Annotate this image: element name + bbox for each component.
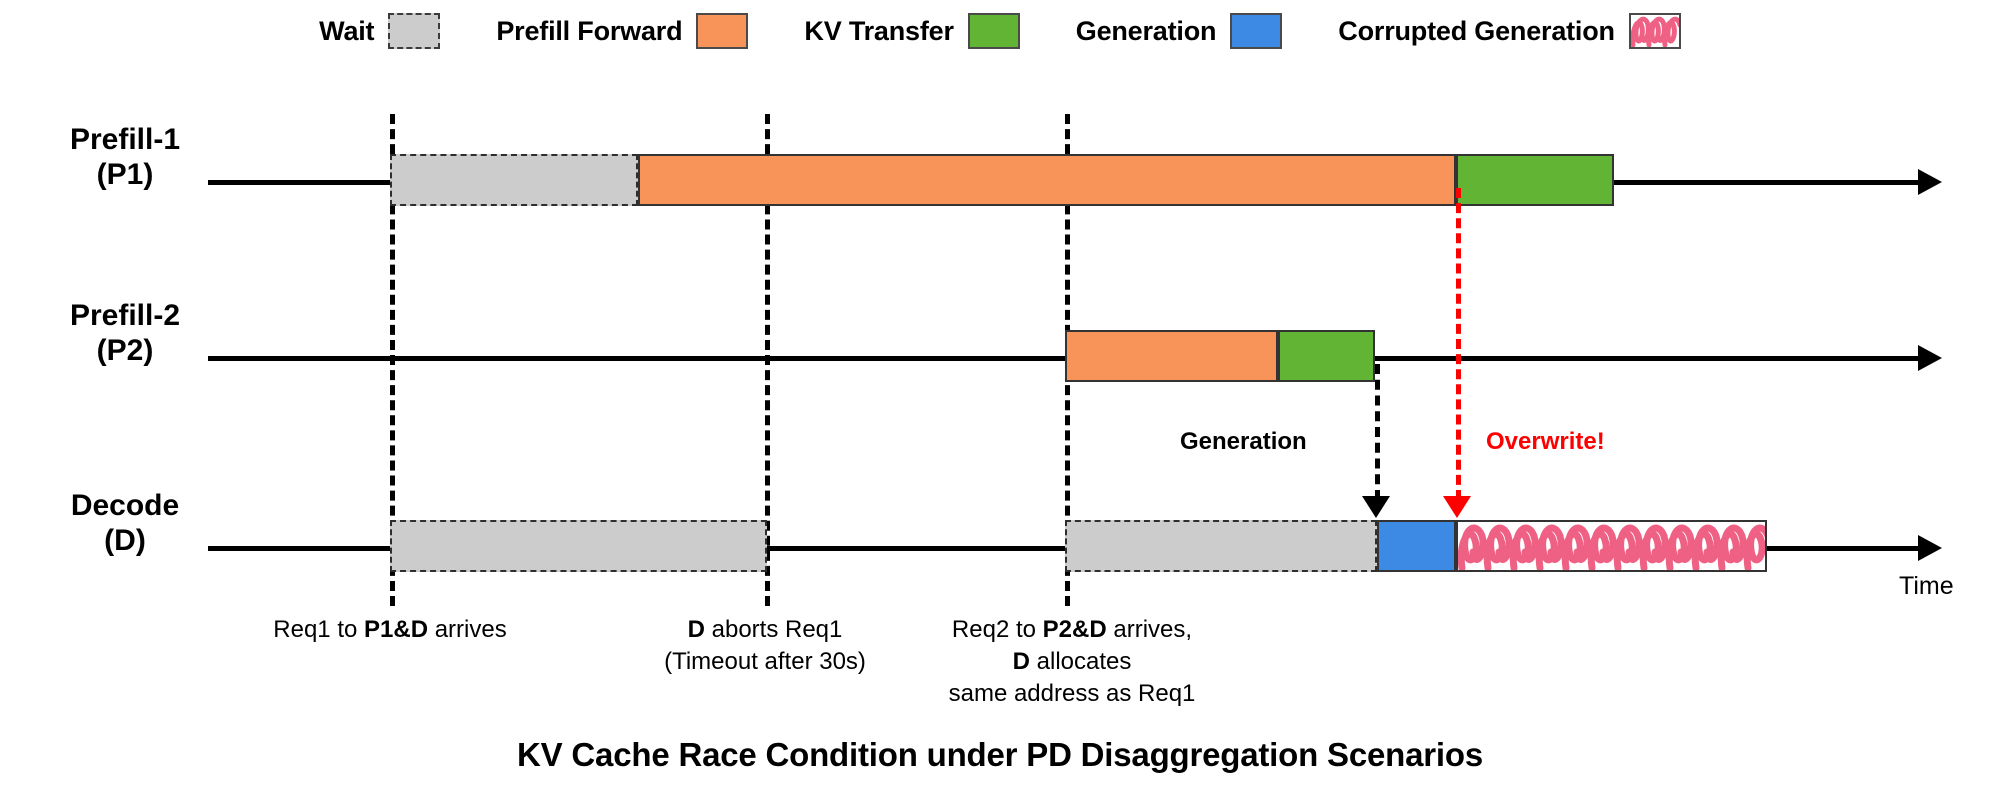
row-label-decode-line1: Decode xyxy=(10,488,240,523)
row-label-decode: Decode (D) xyxy=(10,488,240,559)
corrupted-generation-swatch-icon xyxy=(1629,13,1681,49)
row-label-decode-line2: (D) xyxy=(10,523,240,558)
row-label-prefill-1: Prefill-1 (P1) xyxy=(10,122,240,193)
bar-p2-prefill-forward xyxy=(1065,330,1278,382)
generation-swatch-icon xyxy=(1230,13,1282,49)
caption-line: Req1 to P1&D arrives xyxy=(273,614,506,646)
legend-item-wait: Wait xyxy=(319,13,440,49)
figure-canvas: Wait Prefill Forward KV Transfer Generat… xyxy=(0,0,2000,792)
time-axis-label: Time xyxy=(1899,572,1954,601)
prefill-forward-swatch-icon xyxy=(696,13,748,49)
caption-event-req2-arrives: Req2 to P2&D arrives, D allocates same a… xyxy=(949,614,1196,710)
legend-label-kv-transfer: KV Transfer xyxy=(804,16,953,47)
causal-arrow-generation-line xyxy=(1375,364,1380,500)
timeline-axis-head-prefill-1 xyxy=(1918,169,1942,195)
causal-arrow-overwrite-head-icon xyxy=(1443,496,1471,518)
bar-decode-generation xyxy=(1377,520,1456,572)
caption-line: D aborts Req1 xyxy=(664,614,866,646)
row-label-prefill-2: Prefill-2 (P2) xyxy=(10,298,240,369)
timeline-axis-head-decode xyxy=(1918,535,1942,561)
legend-item-corrupted-generation: Corrupted Generation xyxy=(1338,13,1681,49)
row-label-prefill-1-line2: (P1) xyxy=(10,157,240,192)
caption-event-req1-arrives: Req1 to P1&D arrives xyxy=(273,614,506,646)
timeline-axis-prefill-2 xyxy=(208,356,1920,361)
legend-label-corrupted-generation: Corrupted Generation xyxy=(1338,16,1615,47)
bar-p1-wait xyxy=(390,154,638,206)
caption-line: (Timeout after 30s) xyxy=(664,646,866,678)
causal-arrow-generation-label: Generation xyxy=(1180,428,1307,456)
bar-p2-kv-transfer xyxy=(1278,330,1375,382)
legend-item-prefill-forward: Prefill Forward xyxy=(496,13,748,49)
bar-decode-wait-2 xyxy=(1065,520,1377,572)
legend-item-generation: Generation xyxy=(1076,13,1283,49)
kv-transfer-swatch-icon xyxy=(968,13,1020,49)
bar-p1-prefill-forward xyxy=(638,154,1456,206)
bar-decode-corrupted-generation xyxy=(1456,520,1767,572)
legend: Wait Prefill Forward KV Transfer Generat… xyxy=(0,0,2000,62)
wait-swatch-icon xyxy=(388,13,440,49)
row-label-prefill-1-line1: Prefill-1 xyxy=(10,122,240,157)
row-label-prefill-2-line2: (P2) xyxy=(10,333,240,368)
timeline-axis-head-prefill-2 xyxy=(1918,345,1942,371)
legend-label-wait: Wait xyxy=(319,16,374,47)
figure-title: KV Cache Race Condition under PD Disaggr… xyxy=(0,736,2000,774)
caption-line: Req2 to P2&D arrives, xyxy=(949,614,1196,646)
causal-arrow-overwrite-label: Overwrite! xyxy=(1486,428,1605,456)
legend-item-kv-transfer: KV Transfer xyxy=(804,13,1019,49)
causal-arrow-overwrite-line xyxy=(1456,188,1461,500)
causal-arrow-generation-head-icon xyxy=(1362,496,1390,518)
legend-label-prefill-forward: Prefill Forward xyxy=(496,16,682,47)
row-label-prefill-2-line1: Prefill-2 xyxy=(10,298,240,333)
caption-event-abort-req1: D aborts Req1 (Timeout after 30s) xyxy=(664,614,866,678)
caption-line: same address as Req1 xyxy=(949,678,1196,710)
bar-p1-kv-transfer xyxy=(1456,154,1614,206)
caption-line: D allocates xyxy=(949,646,1196,678)
bar-decode-wait-1 xyxy=(390,520,767,572)
legend-label-generation: Generation xyxy=(1076,16,1217,47)
